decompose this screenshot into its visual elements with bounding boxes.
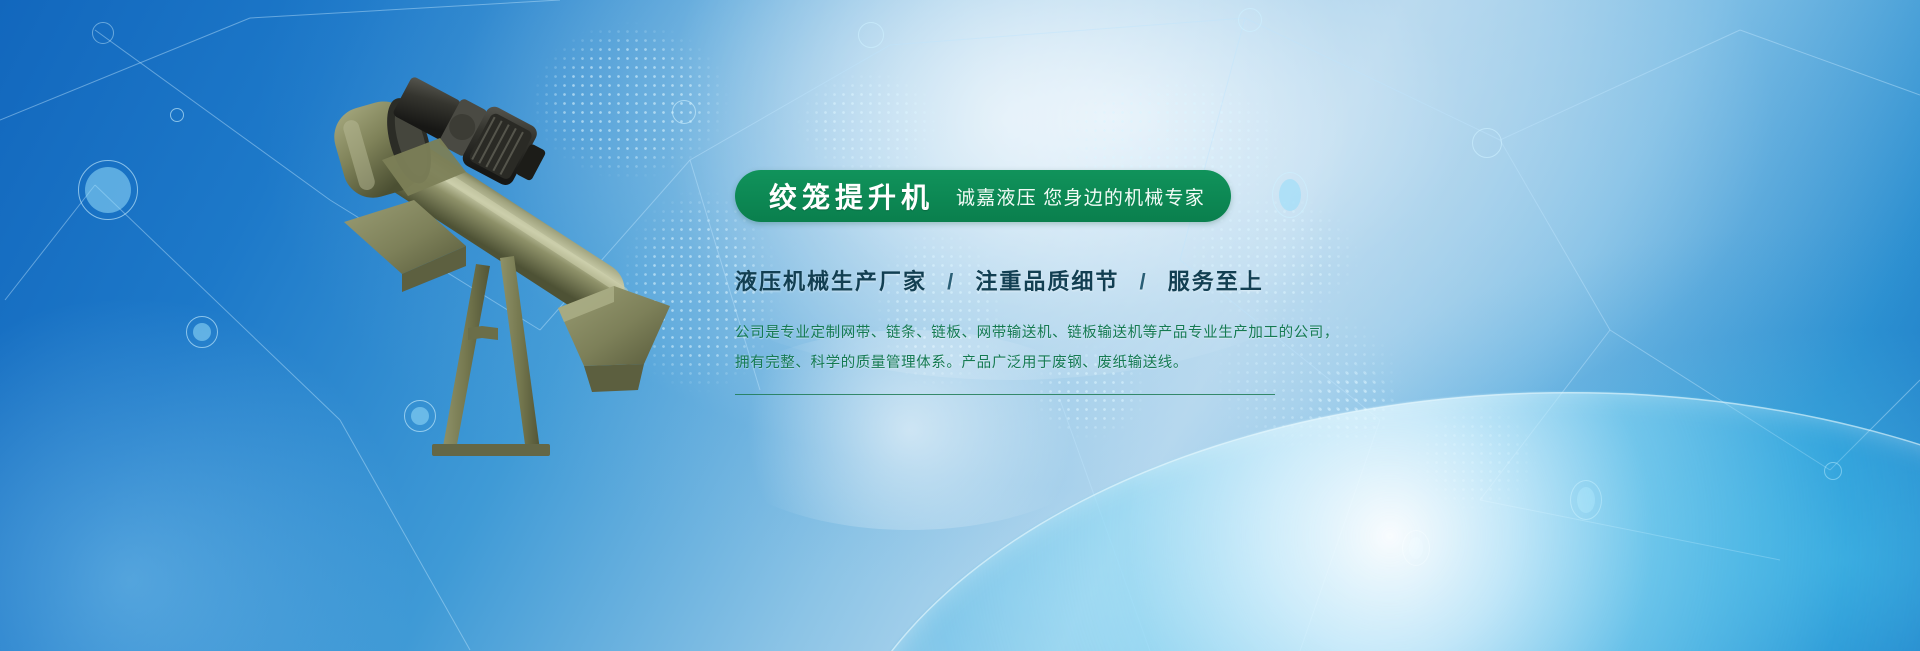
decorative-ring [858, 22, 884, 48]
banner-content: 绞笼提升机 诚嘉液压 您身边的机械专家 液压机械生产厂家 / 注重品质细节 / … [735, 170, 1295, 395]
headline-separator-1: / [947, 269, 955, 294]
headline-part-2: 注重品质细节 [975, 269, 1119, 294]
product-name: 绞笼提升机 [769, 176, 934, 216]
headline-part-1: 液压机械生产厂家 [735, 269, 927, 294]
description-line-2: 拥有完整、科学的质量管理体系。产品广泛用于废钢、废纸输送线。 [735, 348, 1295, 378]
headline-separator-2: / [1140, 269, 1148, 294]
product-title-pill: 绞笼提升机 诚嘉液压 您身边的机械专家 [735, 170, 1231, 222]
decorative-ring [186, 316, 218, 348]
decorative-ring [92, 22, 114, 44]
decorative-ring [1472, 128, 1502, 158]
headline: 液压机械生产厂家 / 注重品质细节 / 服务至上 [735, 264, 1295, 296]
product-image-screw-conveyor [290, 60, 710, 470]
divider [735, 394, 1275, 395]
decorative-ring [1238, 8, 1262, 32]
description-line-1: 公司是专业定制网带、链条、链板、网带输送机、链板输送机等产品专业生产加工的公司， [735, 318, 1295, 348]
headline-part-3: 服务至上 [1168, 269, 1264, 294]
decorative-ring [170, 108, 184, 122]
company-slogan: 诚嘉液压 您身边的机械专家 [956, 183, 1205, 210]
decorative-ring [78, 160, 138, 220]
hero-banner: 绞笼提升机 诚嘉液压 您身边的机械专家 液压机械生产厂家 / 注重品质细节 / … [0, 0, 1920, 651]
description-paragraph: 公司是专业定制网带、链条、链板、网带输送机、链板输送机等产品专业生产加工的公司，… [735, 318, 1295, 378]
